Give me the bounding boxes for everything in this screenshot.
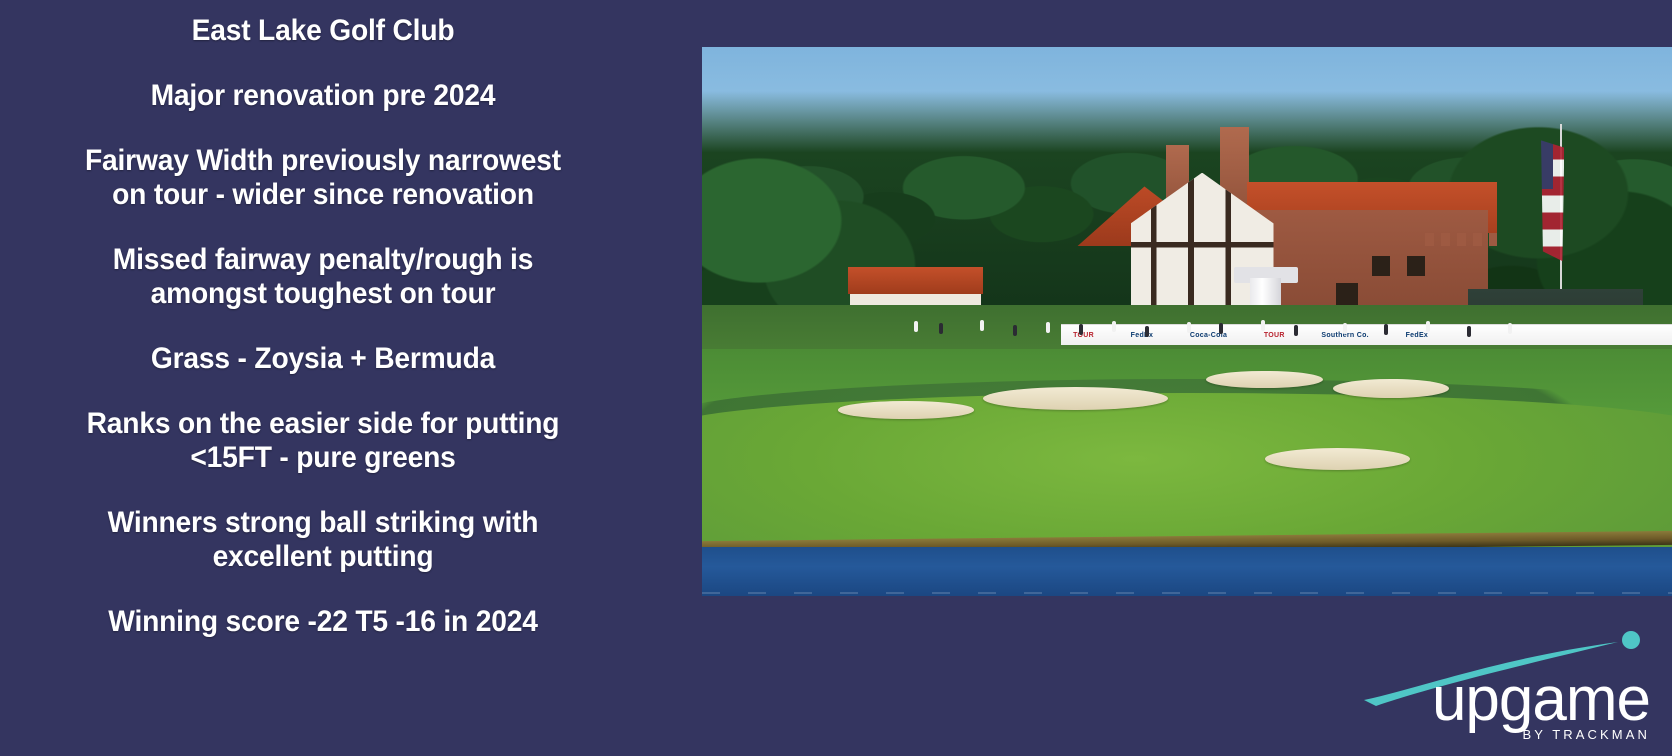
swoosh-dot-icon bbox=[1622, 631, 1640, 649]
page-title: East Lake Golf Club bbox=[35, 14, 610, 48]
clubhouse-crenellation bbox=[1425, 233, 1496, 247]
lake-water bbox=[702, 547, 1672, 596]
logo-wordmark: upgame bbox=[1432, 665, 1650, 734]
bullet-grass-type: Grass - Zoysia + Bermuda bbox=[35, 342, 610, 376]
bullet-winning-score: Winning score -22 T5 -16 in 2024 bbox=[35, 605, 610, 639]
bullet-putting-ranks: Ranks on the easier side for putting <15… bbox=[35, 407, 610, 475]
bullet-major-renovation: Major renovation pre 2024 bbox=[35, 79, 610, 113]
upgame-logo: upgame BY TRACKMAN bbox=[1350, 626, 1650, 746]
logo-subtitle: BY TRACKMAN bbox=[1522, 727, 1650, 742]
clubhouse-window bbox=[1372, 256, 1390, 277]
course-photo: TOUR FedEx Coca-Cola TOUR Southern Co. F… bbox=[702, 47, 1672, 596]
spectators-and-players bbox=[799, 305, 1624, 343]
bullet-fairway-width: Fairway Width previously narrowest on to… bbox=[35, 144, 610, 212]
bunker bbox=[1265, 448, 1411, 470]
clubhouse-window bbox=[1407, 256, 1425, 277]
water-shimmer bbox=[702, 592, 1672, 593]
bullet-missed-fairway-penalty: Missed fairway penalty/rough is amongst … bbox=[35, 243, 610, 311]
text-column: East Lake Golf Club Major renovation pre… bbox=[0, 0, 645, 756]
bullet-winners-profile: Winners strong ball striking with excell… bbox=[35, 506, 610, 574]
outbuilding-roof bbox=[848, 267, 984, 295]
us-flag-icon bbox=[1541, 140, 1564, 261]
slide-root: East Lake Golf Club Major renovation pre… bbox=[0, 0, 1672, 756]
bunker bbox=[838, 401, 974, 419]
